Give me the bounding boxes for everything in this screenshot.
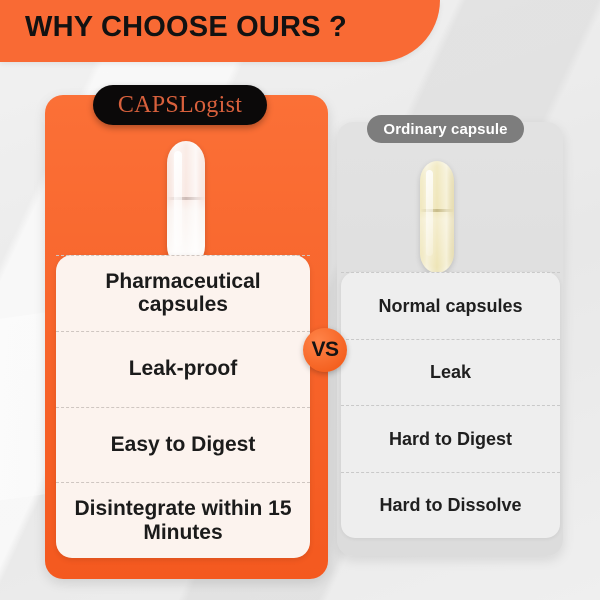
ours-feature-1: Pharmaceutical capsules — [66, 270, 300, 317]
list-item: Pharmaceutical capsules — [56, 255, 310, 331]
ordinary-capsule-badge-label: Ordinary capsule — [383, 121, 507, 138]
competitor-feature-card: Normal capsules Leak Hard to Digest Hard… — [341, 272, 560, 538]
ours-feature-card: Pharmaceutical capsules Leak-proof Easy … — [56, 255, 310, 558]
list-item: Hard to Dissolve — [341, 472, 560, 539]
brand-badge: CAPSLogist — [93, 85, 267, 125]
list-item: Disintegrate within 15 Minutes — [56, 482, 310, 558]
theirs-feature-1: Normal capsules — [378, 296, 522, 316]
list-item: Normal capsules — [341, 272, 560, 339]
list-item: Leak — [341, 339, 560, 406]
ours-feature-2: Leak-proof — [129, 357, 238, 381]
list-item: Hard to Digest — [341, 405, 560, 472]
ours-feature-3: Easy to Digest — [111, 433, 256, 457]
list-item: Easy to Digest — [56, 407, 310, 483]
header-banner: WHY CHOOSE OURS ? — [0, 0, 440, 62]
versus-badge: VS — [303, 328, 347, 372]
ordinary-capsule-badge: Ordinary capsule — [367, 115, 524, 143]
theirs-feature-4: Hard to Dissolve — [379, 495, 521, 515]
our-capsule-image — [167, 141, 205, 268]
theirs-feature-2: Leak — [430, 362, 471, 382]
ordinary-capsule-image — [420, 161, 454, 273]
ours-feature-4: Disintegrate within 15 Minutes — [66, 497, 300, 544]
versus-label: VS — [311, 338, 338, 362]
page-title: WHY CHOOSE OURS ? — [25, 11, 347, 44]
list-item: Leak-proof — [56, 331, 310, 407]
theirs-feature-3: Hard to Digest — [389, 429, 512, 449]
brand-badge-label: CAPSLogist — [118, 92, 242, 119]
